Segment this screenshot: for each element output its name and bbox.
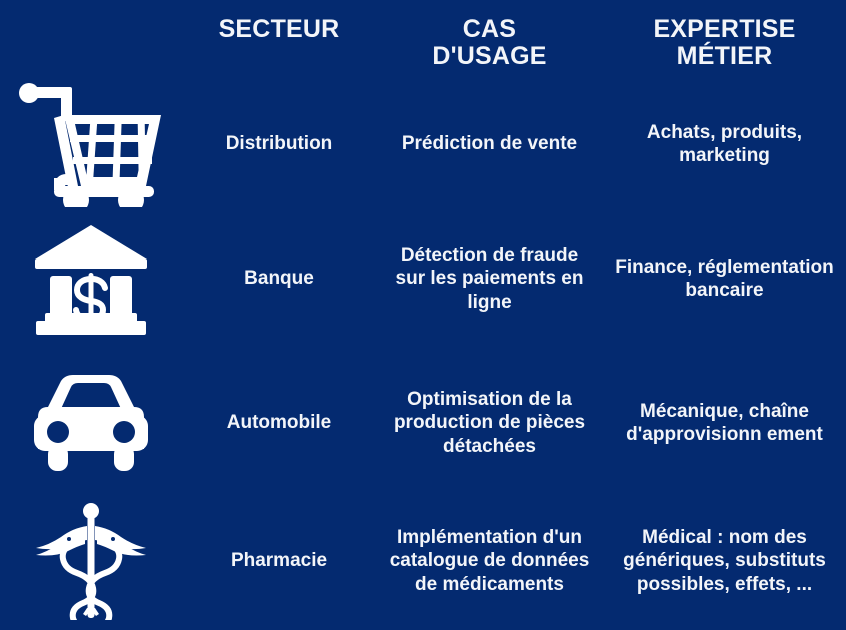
column-header-sector: SECTEUR <box>182 16 376 43</box>
bank-icon <box>33 221 149 337</box>
expertise-text: Finance, réglementation bancaire <box>603 256 846 302</box>
table-row-icon-cell <box>0 502 182 620</box>
expertise-text: Mécanique, chaîne d'approvisionn ement <box>603 400 846 446</box>
column-header-expertise-line2: MÉTIER <box>609 43 840 70</box>
sector-label: Pharmacie <box>182 550 376 572</box>
use-case-text: Implémentation d'un catalogue de données… <box>376 526 603 596</box>
expertise-text: Achats, produits, marketing <box>603 121 846 167</box>
table-row-icon-cell <box>0 221 182 337</box>
column-header-expertise-line1: EXPERTISE <box>609 16 840 43</box>
expertise-text: Médical : nom des génériques, substituts… <box>603 526 846 596</box>
sector-label: Distribution <box>182 133 376 155</box>
use-case-text: Prédiction de vente <box>376 132 603 155</box>
use-case-text: Optimisation de la production de pièces … <box>376 388 603 458</box>
shopping-cart-icon <box>18 82 164 207</box>
use-case-text: Détection de fraude sur les paiements en… <box>376 244 603 314</box>
sector-label: Automobile <box>182 412 376 434</box>
table-row-icon-cell <box>0 82 182 207</box>
car-icon <box>30 373 152 473</box>
column-header-use-case-line2: D'USAGE <box>382 43 597 70</box>
column-header-use-case-line1: CAS <box>382 16 597 43</box>
column-header-expertise: EXPERTISE MÉTIER <box>603 16 846 70</box>
sector-label: Banque <box>182 268 376 290</box>
column-header-use-case: CAS D'USAGE <box>376 16 603 70</box>
caduceus-icon <box>35 502 147 620</box>
table-row-icon-cell <box>0 373 182 473</box>
sector-use-case-table: SECTEUR CAS D'USAGE EXPERTISE MÉTIER <box>0 0 846 630</box>
